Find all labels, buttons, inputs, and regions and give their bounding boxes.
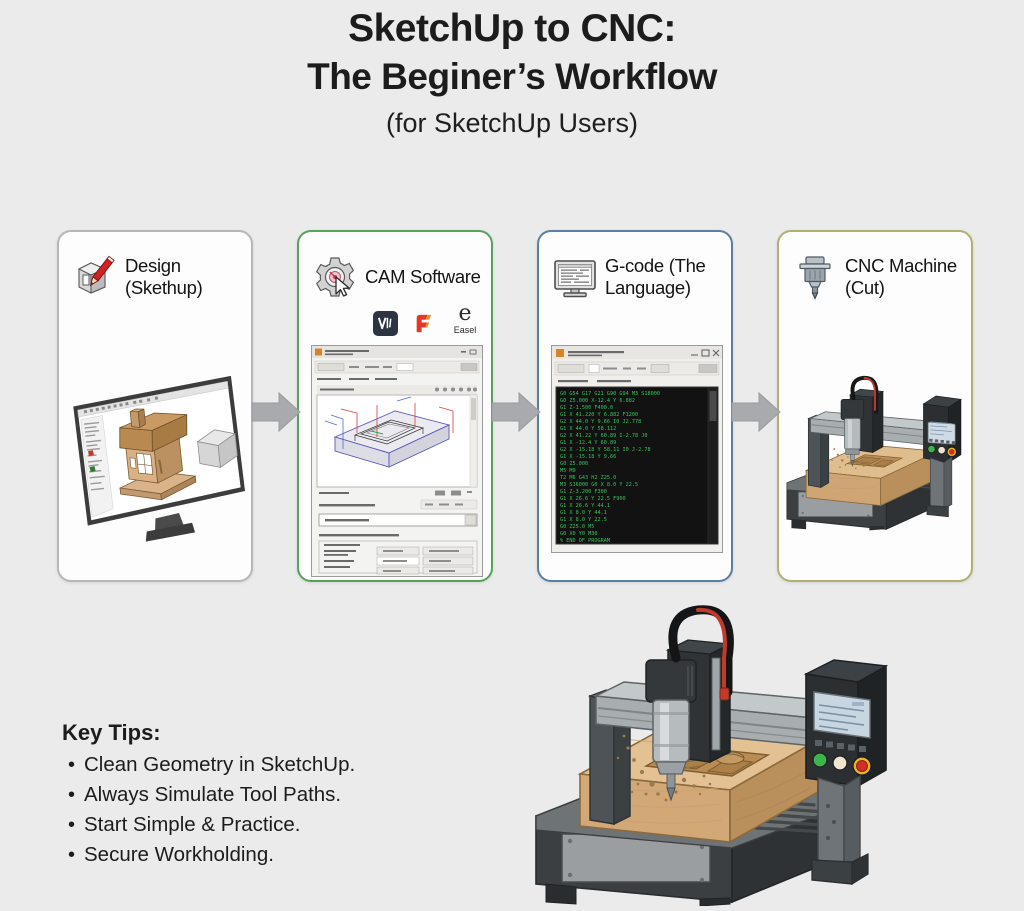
svg-text:T2 M6 G43 H2 Z25.0: T2 M6 G43 H2 Z25.0 <box>560 475 616 481</box>
svg-text:M3 S16000 G0 X 8.0 Y 22.5: M3 S16000 G0 X 8.0 Y 22.5 <box>560 482 638 488</box>
svg-text:M5 M9: M5 M9 <box>560 468 576 474</box>
vcarve-logo <box>373 311 398 336</box>
key-tips-list: Clean Geometry in SketchUp. Always Simul… <box>62 750 482 870</box>
easel-logo: e Easel <box>448 304 482 336</box>
page-title: SketchUp to CNC: The Beginer’s Workflow … <box>0 6 1024 140</box>
svg-text:G0 X0 Y0 M30: G0 X0 Y0 M30 <box>560 531 597 537</box>
svg-text:% END OF PROGRAM: % END OF PROGRAM <box>560 538 610 544</box>
card-title-design-line2: (Skethup) <box>125 277 203 298</box>
card-title-gcode-line1: G-code (The <box>605 255 706 276</box>
cnc-machine-illustration-small <box>779 340 971 545</box>
workflow-step-gcode[interactable]: G-code (The Language) <box>537 230 733 582</box>
card-title-design-line1: Design <box>125 255 181 276</box>
svg-text:G1 X 26.6 Y 44.1: G1 X 26.6 Y 44.1 <box>560 503 610 509</box>
workflow-step-cnc[interactable]: CNC Machine (Cut) <box>777 230 973 582</box>
sketchup-screenshot <box>61 372 253 547</box>
title-line-2: The Beginer’s Workflow <box>0 54 1024 100</box>
easel-glyph: e <box>458 301 471 326</box>
card-title-design: Design (Skethup) <box>125 255 203 299</box>
card-title-cnc-line2: (Cut) <box>845 277 885 298</box>
arrow-cam-to-gcode <box>490 390 542 434</box>
cube-pencil-icon <box>71 253 119 301</box>
cam-software-logos: e Easel <box>373 304 482 336</box>
arrow-design-to-cam <box>250 390 302 434</box>
gcode-screenshot: G0 G54 G17 G21 G90 G94 M3 S18000 G0 Z5.0… <box>551 345 723 558</box>
svg-text:G2 X 44.0 Y 9.66 I0 J2.778: G2 X 44.0 Y 9.66 I0 J2.778 <box>560 419 641 425</box>
svg-text:G1 X 8.0 Y 22.5: G1 X 8.0 Y 22.5 <box>560 517 607 523</box>
card-title-cam: CAM Software <box>365 266 481 288</box>
card-header-design: Design (Skethup) <box>59 244 253 310</box>
key-tip-item: Always Simulate Tool Paths. <box>62 780 482 810</box>
svg-text:G1 X 41.220 Y 6.882 F1200: G1 X 41.220 Y 6.882 F1200 <box>560 412 638 418</box>
easel-label: Easel <box>448 325 482 336</box>
svg-text:G1 Z-1.500 F400.0: G1 Z-1.500 F400.0 <box>560 405 613 411</box>
gear-cursor-icon <box>311 253 359 301</box>
card-title-cnc: CNC Machine (Cut) <box>845 255 957 299</box>
workflow-step-cam[interactable]: CAM Software e Easel <box>297 230 493 582</box>
svg-text:G1 Z-3.200 F300: G1 Z-3.200 F300 <box>560 489 607 495</box>
cnc-router-machine-illustration <box>518 588 998 906</box>
svg-text:G0 Z5.000: G0 Z5.000 <box>560 461 588 467</box>
cam-screenshot <box>311 345 483 582</box>
key-tip-item: Secure Workholding. <box>62 840 482 870</box>
svg-text:G1 X 8.0 Y 44.1: G1 X 8.0 Y 44.1 <box>560 510 607 516</box>
fusion360-logo <box>410 310 436 336</box>
key-tip-item: Start Simple & Practice. <box>62 810 482 840</box>
svg-text:G2 X 41.22 Y 60.89 I-2.78 J0: G2 X 41.22 Y 60.89 I-2.78 J0 <box>560 433 647 439</box>
spindle-router-bit-icon <box>791 253 839 301</box>
key-tips-heading: Key Tips: <box>62 718 482 748</box>
svg-text:G1 X -12.4 Y 60.89: G1 X -12.4 Y 60.89 <box>560 440 616 446</box>
monitor-code-icon <box>551 253 599 301</box>
arrow-gcode-to-cnc <box>730 390 782 434</box>
key-tip-item: Clean Geometry in SketchUp. <box>62 750 482 780</box>
title-line-1: SketchUp to CNC: <box>0 6 1024 52</box>
workflow-step-design[interactable]: Design (Skethup) <box>57 230 253 582</box>
svg-text:G0 Z5.000 X-12.4 Y 6.882: G0 Z5.000 X-12.4 Y 6.882 <box>560 398 635 404</box>
svg-text:G2 X -15.18 Y 58.11 I0 J-2.78: G2 X -15.18 Y 58.11 I0 J-2.78 <box>560 447 651 453</box>
svg-text:G1 X 26.6 Y 22.5 F900: G1 X 26.6 Y 22.5 F900 <box>560 496 626 502</box>
svg-text:G0 G54 G17 G21 G90 G94 M3 S180: G0 G54 G17 G21 G90 G94 M3 S18000 <box>560 391 660 397</box>
card-header-cnc: CNC Machine (Cut) <box>779 244 973 310</box>
svg-text:G0 Z25.0 M5: G0 Z25.0 M5 <box>560 524 594 530</box>
card-title-gcode: G-code (The Language) <box>605 255 706 299</box>
key-tips-section: Key Tips: Clean Geometry in SketchUp. Al… <box>62 718 482 870</box>
card-header-gcode: G-code (The Language) <box>539 244 733 310</box>
svg-text:G1 X -15.18 Y 9.66: G1 X -15.18 Y 9.66 <box>560 454 616 460</box>
title-subtitle: (for SketchUp Users) <box>0 106 1024 140</box>
infographic-canvas: SketchUp to CNC: The Beginer’s Workflow … <box>0 0 1024 906</box>
svg-text:G1 X 44.0 Y 58.112: G1 X 44.0 Y 58.112 <box>560 426 616 432</box>
card-title-gcode-line2: Language) <box>605 277 691 298</box>
card-title-cnc-line1: CNC Machine <box>845 255 957 276</box>
